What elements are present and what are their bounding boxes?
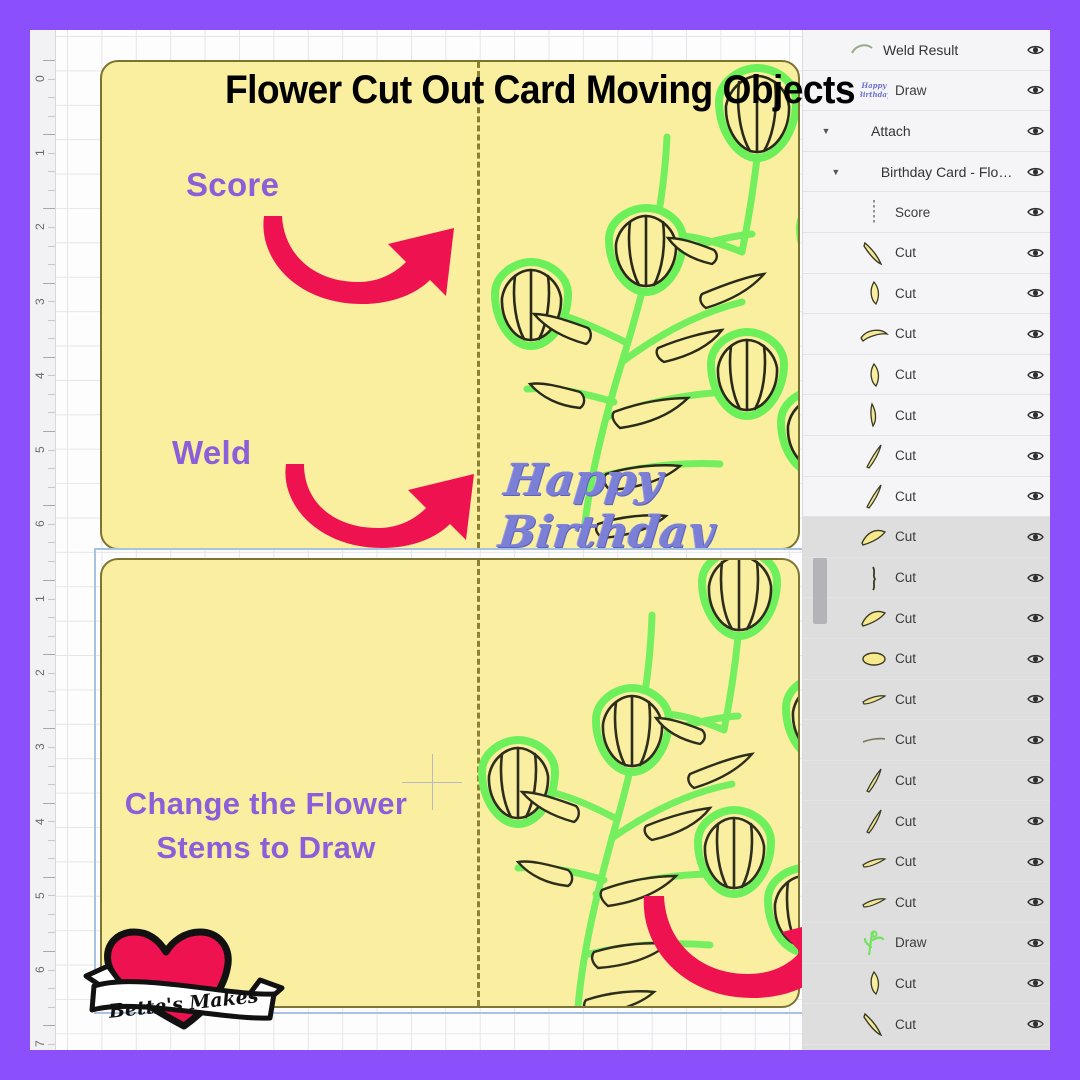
stem-thumb: [857, 441, 891, 471]
ruler-tick: [48, 858, 55, 859]
ruler-label: 3: [33, 298, 47, 305]
squiggle-thumb: [857, 563, 891, 593]
ruler-tick: [48, 542, 55, 543]
thin-line-thumb: [857, 725, 891, 755]
ruler-tick: [43, 431, 55, 432]
layer-row[interactable]: ▼Attach: [803, 111, 1050, 152]
arc-thumb: [857, 319, 891, 349]
ruler-tick: [48, 171, 55, 172]
greeting-line-1: Happy: [502, 455, 722, 507]
layer-label: Weld Result: [879, 42, 1020, 58]
layer-row[interactable]: Weld Result: [803, 30, 1050, 71]
eye-icon[interactable]: [1027, 166, 1044, 178]
vertical-ruler[interactable]: 01234561234567: [30, 30, 56, 1050]
eye-icon[interactable]: [1027, 247, 1044, 259]
visibility-toggle[interactable]: [1020, 125, 1050, 137]
ruler-tick: [48, 840, 55, 841]
layer-row[interactable]: Cut: [803, 801, 1050, 842]
ruler-tick: [48, 450, 55, 451]
green-stem-thumb: [857, 928, 891, 958]
canvas-scrollbar-thumb[interactable]: [813, 558, 827, 624]
visibility-toggle[interactable]: [1020, 937, 1050, 949]
eye-icon[interactable]: [1027, 125, 1044, 137]
ruler-tick: [48, 895, 55, 896]
eye-icon[interactable]: [1027, 490, 1044, 502]
ruler-tick: [48, 301, 55, 302]
ruler-label: 7: [33, 1041, 47, 1048]
page-title: Flower Cut Out Card Moving Objects: [66, 68, 1015, 113]
layer-row[interactable]: Score: [803, 192, 1050, 233]
stem-thumb: [857, 481, 891, 511]
visibility-toggle[interactable]: [1020, 653, 1050, 665]
ruler-tick: [48, 766, 55, 767]
ruler-label: 5: [33, 892, 47, 899]
visibility-toggle[interactable]: [1020, 247, 1050, 259]
ruler-tick: [43, 505, 55, 506]
layer-label: Cut: [891, 773, 1020, 788]
layer-label: Cut: [891, 732, 1020, 747]
visibility-toggle[interactable]: [1020, 896, 1050, 908]
ruler-tick: [48, 636, 55, 637]
visibility-toggle[interactable]: [1020, 531, 1050, 543]
layer-row[interactable]: Cut: [803, 477, 1050, 518]
ruler-tick: [48, 784, 55, 785]
ruler-tick: [43, 283, 55, 284]
arrow-to-weld-text: [278, 460, 488, 560]
layer-label: Cut: [891, 976, 1020, 991]
wide-petal-thumb: [857, 603, 891, 633]
ruler-tick: [48, 227, 55, 228]
ruler-tick: [48, 710, 55, 711]
ruler-tick: [43, 1025, 55, 1026]
ruler-tick: [48, 97, 55, 98]
layer-row[interactable]: Cut: [803, 395, 1050, 436]
ruler-label: 2: [33, 670, 47, 677]
ruler-tick: [48, 524, 55, 525]
ruler-tick: [48, 116, 55, 117]
eye-icon[interactable]: [1027, 328, 1044, 340]
stem-thumb: [857, 806, 891, 836]
ruler-tick: [43, 134, 55, 135]
annotation-change-line-1: Change the Flower: [90, 782, 442, 826]
layer-row[interactable]: Cut: [803, 355, 1050, 396]
layers-panel[interactable]: Weld ResultHappyBirthdayDraw▼Attach▼Birt…: [802, 30, 1050, 1050]
layer-row[interactable]: Cut: [803, 842, 1050, 883]
ruler-tick: [48, 691, 55, 692]
visibility-toggle[interactable]: [1020, 572, 1050, 584]
oval-thumb: [857, 644, 891, 674]
ruler-tick: [48, 747, 55, 748]
layer-label: Cut: [891, 326, 1020, 341]
ruler-label: 4: [33, 372, 47, 379]
ruler-tick: [48, 79, 55, 80]
visibility-toggle[interactable]: [1020, 977, 1050, 989]
layer-row[interactable]: Cut: [803, 639, 1050, 680]
layer-label: Cut: [891, 489, 1020, 504]
ruler-tick: [48, 246, 55, 247]
score-line-thumb: [857, 197, 891, 227]
sliver-thumb: [857, 847, 891, 877]
visibility-toggle[interactable]: [1020, 1018, 1050, 1030]
layer-row[interactable]: Cut: [803, 882, 1050, 923]
hook-thumb: [857, 400, 891, 430]
ruler-tick: [48, 1007, 55, 1008]
ruler-tick: [48, 988, 55, 989]
visibility-toggle[interactable]: [1020, 166, 1050, 178]
eye-icon[interactable]: [1027, 612, 1044, 624]
ruler-tick: [43, 580, 55, 581]
stem-thumb: [857, 765, 891, 795]
eye-icon[interactable]: [1027, 531, 1044, 543]
weld-result-thumb: [845, 35, 879, 65]
layer-label: Cut: [891, 651, 1020, 666]
ruler-label: 1: [33, 595, 47, 602]
layer-label: Draw: [891, 935, 1020, 950]
eye-icon[interactable]: [1027, 693, 1044, 705]
eye-icon[interactable]: [1027, 977, 1044, 989]
arrow-to-score-line: [258, 208, 468, 318]
ruler-tick: [48, 394, 55, 395]
eye-icon[interactable]: [1027, 937, 1044, 949]
greeting-text-top: Happy Birthday: [497, 455, 722, 550]
layer-row[interactable]: Cut: [803, 1004, 1050, 1045]
ruler-tick: [43, 208, 55, 209]
eye-icon[interactable]: [1027, 734, 1044, 746]
ruler-tick: [43, 877, 55, 878]
ruler-tick: [43, 728, 55, 729]
visibility-toggle[interactable]: [1020, 369, 1050, 381]
layer-label: Cut: [891, 408, 1020, 423]
ruler-tick: [43, 357, 55, 358]
visibility-toggle[interactable]: [1020, 612, 1050, 624]
ruler-tick: [48, 412, 55, 413]
petal-thumb: [857, 360, 891, 390]
visibility-toggle[interactable]: [1020, 774, 1050, 786]
ruler-tick: [48, 153, 55, 154]
layer-label: Cut: [891, 814, 1020, 829]
layer-row[interactable]: Draw: [803, 923, 1050, 964]
visibility-toggle[interactable]: [1020, 84, 1050, 96]
ruler-tick: [48, 1044, 55, 1045]
layer-row[interactable]: Cut: [803, 314, 1050, 355]
visibility-toggle[interactable]: [1020, 490, 1050, 502]
bettes-makes-logo: Bette's Makes: [78, 922, 290, 1038]
ruler-tick: [48, 487, 55, 488]
visibility-toggle[interactable]: [1020, 856, 1050, 868]
purple-frame: Happy Birthday: [0, 0, 1080, 1080]
ruler-tick: [43, 60, 55, 61]
layer-label: Attach: [867, 123, 1020, 139]
sliver-thumb: [857, 684, 891, 714]
layer-label: Cut: [891, 529, 1020, 544]
eye-icon[interactable]: [1027, 572, 1044, 584]
layer-row[interactable]: Cut: [803, 761, 1050, 802]
sliver-thumb: [857, 887, 891, 917]
layer-label: Cut: [891, 367, 1020, 382]
layer-label: Cut: [891, 854, 1020, 869]
visibility-toggle[interactable]: [1020, 328, 1050, 340]
eye-icon[interactable]: [1027, 287, 1044, 299]
visibility-toggle[interactable]: [1020, 450, 1050, 462]
chevron-down-icon[interactable]: ▼: [819, 126, 833, 136]
eye-icon[interactable]: [1027, 856, 1044, 868]
annotation-change-line-2: Stems to Draw: [90, 826, 442, 870]
eye-icon[interactable]: [1027, 206, 1044, 218]
layer-row[interactable]: Cut: [803, 680, 1050, 721]
layer-row[interactable]: Cut: [803, 558, 1050, 599]
petal-thumb: [857, 278, 891, 308]
eye-icon[interactable]: [1027, 653, 1044, 665]
ruler-tick: [48, 190, 55, 191]
layer-label: Cut: [891, 611, 1020, 626]
ruler-tick: [43, 803, 55, 804]
ruler-tick: [48, 914, 55, 915]
eye-icon[interactable]: [1027, 84, 1044, 96]
ruler-tick: [48, 264, 55, 265]
ruler-label: 0: [33, 75, 47, 82]
ruler-tick: [48, 617, 55, 618]
ruler-tick: [48, 468, 55, 469]
layer-row[interactable]: ▼Birthday Card - Flower Cu…: [803, 152, 1050, 193]
layer-label: Cut: [891, 286, 1020, 301]
layer-row[interactable]: Cut: [803, 964, 1050, 1005]
visibility-toggle[interactable]: [1020, 693, 1050, 705]
eye-icon[interactable]: [1027, 409, 1044, 421]
ruler-tick: [48, 821, 55, 822]
visibility-toggle[interactable]: [1020, 44, 1050, 56]
ruler-label: 5: [33, 446, 47, 453]
eye-icon[interactable]: [1027, 450, 1044, 462]
visibility-toggle[interactable]: [1020, 206, 1050, 218]
layer-row[interactable]: Cut: [803, 274, 1050, 315]
ruler-tick: [43, 951, 55, 952]
eye-icon[interactable]: [1027, 1018, 1044, 1030]
layer-row[interactable]: Cut: [803, 598, 1050, 639]
layer-label: Cut: [891, 895, 1020, 910]
layer-label: Cut: [891, 692, 1020, 707]
layer-row[interactable]: Cut: [803, 233, 1050, 274]
layer-label: Cut: [891, 448, 1020, 463]
eye-icon[interactable]: [1027, 815, 1044, 827]
layer-label: Score: [891, 205, 1020, 220]
leaf-curve-thumb: [857, 1009, 891, 1039]
greeting-line-2: Birthday: [497, 507, 717, 550]
layer-thumbnail: [833, 116, 867, 146]
ruler-label: 1: [33, 150, 47, 157]
annotation-weld-label: Weld: [172, 434, 251, 472]
petal-thumb: [857, 968, 891, 998]
visibility-toggle[interactable]: [1020, 734, 1050, 746]
ruler-tick: [48, 561, 55, 562]
ruler-label: 3: [33, 744, 47, 751]
design-app-window: Happy Birthday: [30, 30, 1050, 1050]
layer-row[interactable]: Cut: [803, 517, 1050, 558]
ruler-label: 6: [33, 966, 47, 973]
layer-row[interactable]: Cut: [803, 1045, 1050, 1050]
ruler-tick: [48, 320, 55, 321]
leaf-curve-thumb: [857, 238, 891, 268]
annotation-change-stems-label: Change the Flower Stems to Draw: [90, 782, 442, 870]
wide-petal-thumb: [857, 522, 891, 552]
layer-label: Cut: [891, 245, 1020, 260]
visibility-toggle[interactable]: [1020, 815, 1050, 827]
layer-row[interactable]: Cut: [803, 720, 1050, 761]
ruler-label: 6: [33, 521, 47, 528]
layer-label: Cut: [891, 570, 1020, 585]
visibility-toggle[interactable]: [1020, 287, 1050, 299]
ruler-tick: [48, 673, 55, 674]
ruler-tick: [48, 338, 55, 339]
ruler-label: 4: [33, 818, 47, 825]
layer-row[interactable]: Cut: [803, 436, 1050, 477]
eye-icon[interactable]: [1027, 44, 1044, 56]
layer-label: Birthday Card - Flower Cu…: [877, 164, 1020, 180]
visibility-toggle[interactable]: [1020, 409, 1050, 421]
ruler-tick: [48, 970, 55, 971]
layer-label: Cut: [891, 1017, 1020, 1032]
ruler-label: 2: [33, 224, 47, 231]
annotation-score-label: Score: [186, 166, 279, 204]
eye-icon[interactable]: [1027, 774, 1044, 786]
ruler-tick: [48, 375, 55, 376]
chevron-down-icon[interactable]: ▼: [829, 167, 843, 177]
ruler-tick: [43, 654, 55, 655]
eye-icon[interactable]: [1027, 369, 1044, 381]
ruler-tick: [48, 932, 55, 933]
ruler-tick: [48, 599, 55, 600]
eye-icon[interactable]: [1027, 896, 1044, 908]
layer-thumbnail: [843, 157, 877, 187]
